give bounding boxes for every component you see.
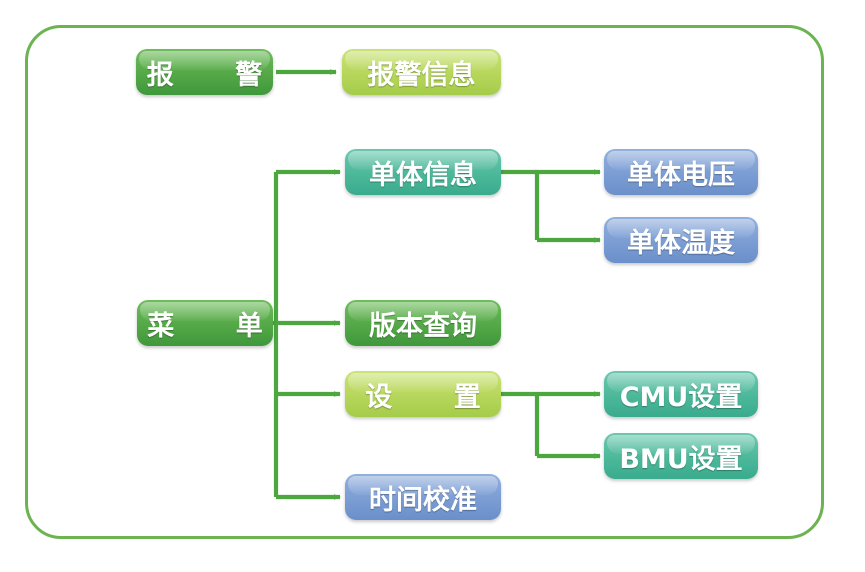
diagram-canvas: 报 警 报警信息 单体信息 单体电压 单体温度 菜 单 版本查询 设 置 CMU… [0,0,865,572]
node-cmu-settings-label: CMU设置 [620,375,743,414]
node-alarm-info[interactable]: 报警信息 [342,49,501,95]
node-alarm-label: 报 警 [136,53,273,92]
node-cell-temperature[interactable]: 单体温度 [604,217,758,263]
node-settings[interactable]: 设 置 [345,371,501,417]
node-alarm[interactable]: 报 警 [136,49,273,95]
node-cell-voltage[interactable]: 单体电压 [604,149,758,195]
node-cell-info[interactable]: 单体信息 [345,149,501,195]
node-version-query[interactable]: 版本查询 [345,300,501,346]
node-time-calibration[interactable]: 时间校准 [345,474,501,520]
node-settings-label: 设 置 [345,375,501,414]
node-bmu-settings-label: BMU设置 [619,437,742,476]
node-cmu-settings[interactable]: CMU设置 [604,371,758,417]
node-time-calibration-label: 时间校准 [369,478,477,517]
node-cell-voltage-label: 单体电压 [627,153,735,192]
node-menu[interactable]: 菜 单 [137,300,273,346]
node-alarm-info-label: 报警信息 [368,53,476,92]
node-cell-temperature-label: 单体温度 [627,221,735,260]
node-menu-label: 菜 单 [137,304,273,343]
node-version-query-label: 版本查询 [369,304,477,343]
node-bmu-settings[interactable]: BMU设置 [604,433,758,479]
node-cell-info-label: 单体信息 [369,153,477,192]
